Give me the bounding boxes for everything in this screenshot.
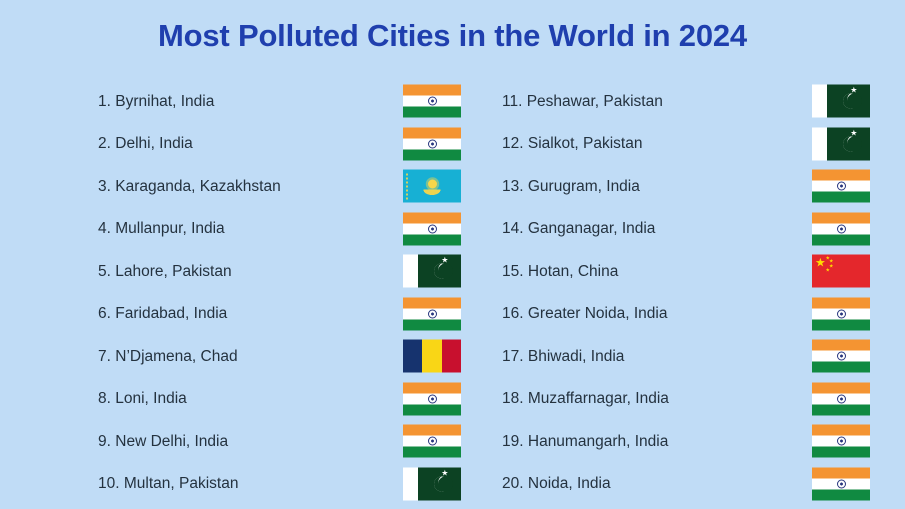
rank-number: 6. xyxy=(98,305,111,322)
flag-slot xyxy=(403,127,461,160)
city-entry-label: 10. Multan, Pakistan xyxy=(98,476,238,492)
flag-slot: ★★★★★ xyxy=(812,255,870,288)
list-item[interactable]: 16. Greater Noida, India xyxy=(502,293,847,336)
rank-number: 2. xyxy=(98,135,111,152)
city-country-name: N’Djamena, Chad xyxy=(115,348,237,365)
list-item[interactable]: 2. Delhi, India xyxy=(98,123,443,166)
chad-red-stripe xyxy=(442,340,461,373)
flag-pakistan-icon xyxy=(403,467,461,500)
rank-number: 14. xyxy=(502,220,524,237)
india-green-band xyxy=(812,319,870,330)
city-entry-label: 18. Muzaffarnagar, India xyxy=(502,391,669,407)
rank-number: 15. xyxy=(502,263,524,280)
rank-number: 11. xyxy=(502,93,522,110)
flag-india-icon xyxy=(403,212,461,245)
india-saffron-band xyxy=(812,382,870,393)
ashoka-chakra-icon xyxy=(428,309,437,318)
flag-slot xyxy=(812,382,870,415)
india-green-band xyxy=(403,447,461,458)
india-green-band xyxy=(403,107,461,118)
rank-number: 3. xyxy=(98,178,111,195)
rank-number: 9. xyxy=(98,433,111,450)
list-item[interactable]: 7. N’Djamena, Chad xyxy=(98,335,443,378)
city-country-name: Bhiwadi, India xyxy=(528,348,625,365)
city-entry-label: 1. Byrnihat, India xyxy=(98,94,214,110)
city-country-name: Hotan, China xyxy=(528,263,618,280)
flag-india-icon xyxy=(812,425,870,458)
list-item[interactable]: 13. Gurugram, India xyxy=(502,165,847,208)
sun-icon xyxy=(428,179,437,188)
crescent-icon xyxy=(434,264,449,279)
kazakh-ornament xyxy=(406,173,409,199)
flag-pakistan-icon xyxy=(403,255,461,288)
list-item[interactable]: 1. Byrnihat, India xyxy=(98,80,443,123)
flag-india-icon xyxy=(812,467,870,500)
flag-slot xyxy=(812,127,870,160)
city-entry-label: 6. Faridabad, India xyxy=(98,306,227,322)
city-country-name: Loni, India xyxy=(115,390,187,407)
india-saffron-band xyxy=(403,127,461,138)
india-saffron-band xyxy=(812,467,870,478)
china-large-star-icon: ★ xyxy=(815,257,826,269)
city-country-name: Multan, Pakistan xyxy=(124,475,239,492)
city-entry-label: 13. Gurugram, India xyxy=(502,179,640,195)
list-item[interactable]: 12. Sialkot, Pakistan xyxy=(502,123,847,166)
city-entry-label: 17. Bhiwadi, India xyxy=(502,349,624,365)
ashoka-chakra-icon xyxy=(428,437,437,446)
china-small-star-icon: ★ xyxy=(826,269,830,274)
city-entry-label: 4. Mullanpur, India xyxy=(98,221,225,237)
list-item[interactable]: 3. Karaganda, Kazakhstan xyxy=(98,165,443,208)
flag-slot xyxy=(403,297,461,330)
rank-number: 4. xyxy=(98,220,111,237)
india-green-band xyxy=(812,447,870,458)
city-entry-label: 2. Delhi, India xyxy=(98,136,193,152)
flag-slot xyxy=(812,297,870,330)
rank-number: 8. xyxy=(98,390,111,407)
india-green-band xyxy=(812,404,870,415)
rank-number: 18. xyxy=(502,390,524,407)
flag-india-icon xyxy=(812,297,870,330)
india-green-band xyxy=(403,234,461,245)
india-saffron-band xyxy=(403,297,461,308)
india-green-band xyxy=(403,404,461,415)
city-entry-label: 14. Ganganagar, India xyxy=(502,221,655,237)
india-saffron-band xyxy=(812,297,870,308)
pakistan-white-hoist xyxy=(812,127,827,160)
city-country-name: Sialkot, Pakistan xyxy=(528,135,643,152)
flag-slot xyxy=(812,340,870,373)
list-item[interactable]: 4. Mullanpur, India xyxy=(98,208,443,251)
ashoka-chakra-icon xyxy=(837,224,846,233)
list-item[interactable]: 18. Muzaffarnagar, India xyxy=(502,378,847,421)
list-item[interactable]: 8. Loni, India xyxy=(98,378,443,421)
india-green-band xyxy=(812,362,870,373)
rank-number: 7. xyxy=(98,348,111,365)
india-green-band xyxy=(812,489,870,500)
flag-slot xyxy=(403,255,461,288)
rank-number: 13. xyxy=(502,178,524,195)
city-entry-label: 16. Greater Noida, India xyxy=(502,306,667,322)
list-item[interactable]: 5. Lahore, Pakistan xyxy=(98,250,443,293)
crescent-icon xyxy=(434,476,449,491)
city-country-name: Muzaffarnagar, India xyxy=(528,390,669,407)
flag-slot xyxy=(403,382,461,415)
rank-number: 1. xyxy=(98,93,111,110)
india-saffron-band xyxy=(403,212,461,223)
ashoka-chakra-icon xyxy=(837,437,846,446)
infographic-root: Most Polluted Cities in the World in 202… xyxy=(0,0,905,509)
rank-number: 12. xyxy=(502,135,524,152)
flag-slot xyxy=(403,212,461,245)
flag-india-icon xyxy=(403,382,461,415)
india-saffron-band xyxy=(812,340,870,351)
flag-chad-icon xyxy=(403,340,461,373)
city-country-name: New Delhi, India xyxy=(115,433,228,450)
pakistan-white-hoist xyxy=(403,467,418,500)
ashoka-chakra-icon xyxy=(837,394,846,403)
chad-blue-stripe xyxy=(403,340,422,373)
city-entry-label: 7. N’Djamena, Chad xyxy=(98,349,238,365)
flag-india-icon xyxy=(403,85,461,118)
city-country-name: Faridabad, India xyxy=(115,305,227,322)
list-item[interactable]: 11. Peshawar, Pakistan xyxy=(502,80,847,123)
flag-slot xyxy=(403,85,461,118)
ashoka-chakra-icon xyxy=(837,479,846,488)
india-green-band xyxy=(403,149,461,160)
flag-slot xyxy=(403,340,461,373)
ashoka-chakra-icon xyxy=(837,352,846,361)
city-entry-label: 9. New Delhi, India xyxy=(98,434,228,450)
list-item[interactable]: 6. Faridabad, India xyxy=(98,293,443,336)
city-country-name: Byrnihat, India xyxy=(115,93,214,110)
list-item[interactable]: 14. Ganganagar, India xyxy=(502,208,847,251)
flag-slot xyxy=(403,425,461,458)
city-entry-label: 8. Loni, India xyxy=(98,391,187,407)
india-saffron-band xyxy=(812,212,870,223)
flag-pakistan-icon xyxy=(812,85,870,118)
flag-india-icon xyxy=(812,212,870,245)
flag-slot xyxy=(403,467,461,500)
list-item[interactable]: 9. New Delhi, India xyxy=(98,420,443,463)
ranking-column-left: 1. Byrnihat, India2. Delhi, India3. Kara… xyxy=(98,80,443,505)
rank-number: 17. xyxy=(502,348,524,365)
city-entry-label: 19. Hanumangarh, India xyxy=(502,434,668,450)
crescent-icon xyxy=(843,136,858,151)
ashoka-chakra-icon xyxy=(837,182,846,191)
flag-pakistan-icon xyxy=(812,127,870,160)
rank-number: 5. xyxy=(98,263,111,280)
city-entry-label: 15. Hotan, China xyxy=(502,264,618,280)
list-item[interactable]: 15. Hotan, China★★★★★ xyxy=(502,250,847,293)
flag-india-icon xyxy=(812,382,870,415)
city-country-name: Delhi, India xyxy=(115,135,193,152)
flag-slot xyxy=(812,425,870,458)
city-country-name: Gurugram, India xyxy=(528,178,640,195)
rank-number: 10. xyxy=(98,475,120,492)
flag-slot xyxy=(812,212,870,245)
india-green-band xyxy=(812,234,870,245)
flag-india-icon xyxy=(812,170,870,203)
city-country-name: Hanumangarh, India xyxy=(528,433,668,450)
flag-kazakhstan-icon xyxy=(403,170,461,203)
list-item[interactable]: 10. Multan, Pakistan xyxy=(98,463,443,506)
city-country-name: Lahore, Pakistan xyxy=(115,263,231,280)
city-country-name: Ganganagar, India xyxy=(528,220,656,237)
india-green-band xyxy=(812,192,870,203)
rank-number: 20. xyxy=(502,475,524,492)
india-saffron-band xyxy=(812,170,870,181)
list-item[interactable]: 19. Hanumangarh, India xyxy=(502,420,847,463)
flag-slot xyxy=(812,170,870,203)
list-item[interactable]: 20. Noida, India xyxy=(502,463,847,506)
ashoka-chakra-icon xyxy=(428,394,437,403)
ashoka-chakra-icon xyxy=(428,97,437,106)
eagle-icon xyxy=(421,190,443,197)
flag-slot xyxy=(812,467,870,500)
flag-china-icon: ★★★★★ xyxy=(812,255,870,288)
list-item[interactable]: 17. Bhiwadi, India xyxy=(502,335,847,378)
ashoka-chakra-icon xyxy=(837,309,846,318)
city-country-name: Peshawar, Pakistan xyxy=(527,93,663,110)
india-saffron-band xyxy=(403,425,461,436)
india-saffron-band xyxy=(403,382,461,393)
page-title: Most Polluted Cities in the World in 202… xyxy=(0,18,905,54)
flag-india-icon xyxy=(403,127,461,160)
pakistan-white-hoist xyxy=(812,85,827,118)
city-entry-label: 11. Peshawar, Pakistan xyxy=(502,94,663,110)
flag-slot xyxy=(812,85,870,118)
rank-number: 19. xyxy=(502,433,524,450)
ranking-column-right: 11. Peshawar, Pakistan12. Sialkot, Pakis… xyxy=(502,80,847,505)
crescent-icon xyxy=(843,94,858,109)
pakistan-white-hoist xyxy=(403,255,418,288)
ashoka-chakra-icon xyxy=(428,139,437,148)
flag-india-icon xyxy=(403,425,461,458)
city-entry-label: 12. Sialkot, Pakistan xyxy=(502,136,642,152)
india-saffron-band xyxy=(403,85,461,96)
city-entry-label: 3. Karaganda, Kazakhstan xyxy=(98,179,281,195)
chad-yellow-stripe xyxy=(422,340,441,373)
city-country-name: Karaganda, Kazakhstan xyxy=(115,178,280,195)
india-saffron-band xyxy=(812,425,870,436)
india-green-band xyxy=(403,319,461,330)
city-entry-label: 20. Noida, India xyxy=(502,476,611,492)
ashoka-chakra-icon xyxy=(428,224,437,233)
city-country-name: Greater Noida, India xyxy=(528,305,668,322)
city-country-name: Noida, India xyxy=(528,475,611,492)
flag-slot xyxy=(403,170,461,203)
city-country-name: Mullanpur, India xyxy=(115,220,224,237)
rank-number: 16. xyxy=(502,305,524,322)
flag-india-icon xyxy=(403,297,461,330)
flag-india-icon xyxy=(812,340,870,373)
city-entry-label: 5. Lahore, Pakistan xyxy=(98,264,232,280)
